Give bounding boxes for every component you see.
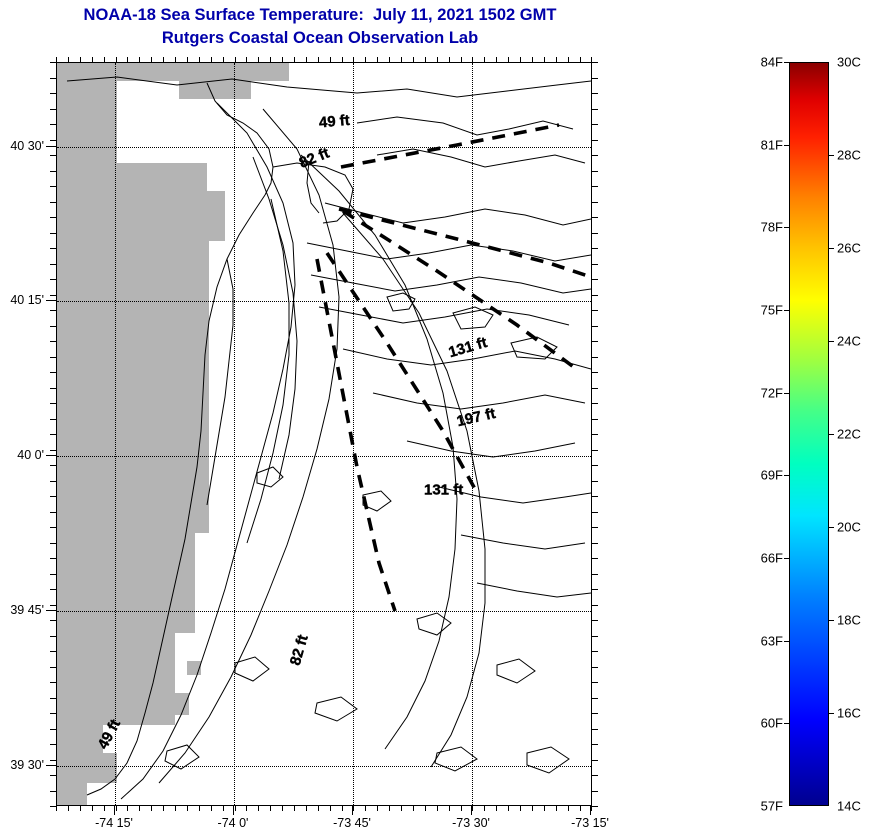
y-axis-minor-tick — [50, 388, 56, 389]
y-axis-right-minor-tick — [592, 589, 598, 590]
x-axis-minor-tick — [318, 806, 319, 811]
y-axis-minor-tick — [50, 651, 56, 652]
x-axis-top-minor-tick — [437, 57, 438, 62]
y-axis-right-minor-tick — [592, 341, 598, 342]
x-axis-top-minor-tick — [151, 57, 152, 62]
x-axis-minor-tick — [377, 806, 378, 811]
x-axis-top-minor-tick — [580, 57, 581, 62]
y-axis-right-minor-tick — [592, 310, 598, 311]
x-axis-major-tick — [114, 806, 115, 815]
x-axis-minor-tick — [139, 806, 140, 811]
y-axis-minor-tick — [50, 775, 56, 776]
y-axis-minor-tick — [50, 465, 56, 466]
y-axis-minor-tick — [50, 744, 56, 745]
x-axis-tick-label: -73 30' — [452, 816, 490, 830]
x-axis-minor-tick — [270, 806, 271, 811]
x-axis-top-minor-tick — [306, 57, 307, 62]
x-axis-top-minor-tick — [223, 57, 224, 62]
y-axis-minor-tick — [50, 512, 56, 513]
y-axis-minor-tick — [50, 729, 56, 730]
y-axis-minor-tick — [50, 357, 56, 358]
map-clip — [57, 63, 591, 805]
colorbar-celsius-tick — [829, 620, 834, 621]
colorbar-celsius-label: 28C — [837, 148, 861, 163]
coastline-contour-overlay — [57, 63, 591, 805]
colorbar-fahrenheit-tick — [784, 475, 789, 476]
y-axis-minor-tick — [50, 326, 56, 327]
x-axis-top-minor-tick — [544, 57, 545, 62]
y-axis-tick-label: 39 30' — [10, 758, 44, 772]
y-axis-minor-tick — [50, 109, 56, 110]
y-axis-minor-tick — [50, 264, 56, 265]
colorbar-fahrenheit-label: 57F — [761, 799, 783, 814]
x-axis-top-minor-tick — [377, 57, 378, 62]
y-axis-right-minor-tick — [592, 403, 598, 404]
y-axis-minor-tick — [50, 481, 56, 482]
x-axis-minor-tick — [401, 806, 402, 811]
y-axis-right-minor-tick — [592, 682, 598, 683]
depth-contour-label: 131 ft — [424, 482, 463, 499]
y-axis-tick-label: 39 45' — [10, 603, 44, 617]
x-axis-tick-label: -74 0' — [218, 816, 249, 830]
y-axis-right-minor-tick — [592, 419, 598, 420]
x-axis-top-minor-tick — [80, 57, 81, 62]
colorbar-fahrenheit-tick — [784, 641, 789, 642]
colorbar-fahrenheit-tick — [784, 227, 789, 228]
x-axis-minor-tick — [104, 806, 105, 811]
colorbar-celsius-tick — [829, 248, 834, 249]
y-axis-right-minor-tick — [592, 155, 598, 156]
colorbar-celsius-label: 24C — [837, 334, 861, 349]
y-axis-right-minor-tick — [592, 713, 598, 714]
x-axis-top-minor-tick — [175, 57, 176, 62]
x-axis-top-minor-tick — [353, 57, 354, 62]
colorbar-fahrenheit-tick — [784, 62, 789, 63]
y-axis-right-minor-tick — [592, 357, 598, 358]
x-axis-top-minor-tick — [425, 57, 426, 62]
y-axis-tick-label: 40 15' — [10, 293, 44, 307]
y-axis-minor-tick — [50, 605, 56, 606]
y-axis-right-minor-tick — [592, 605, 598, 606]
y-axis-right-minor-tick — [592, 558, 598, 559]
y-axis-minor-tick — [50, 620, 56, 621]
y-axis-right-minor-tick — [592, 171, 598, 172]
y-axis-minor-tick — [50, 589, 56, 590]
y-axis-right-minor-tick — [592, 62, 598, 63]
y-axis-minor-tick — [50, 295, 56, 296]
y-axis-right-minor-tick — [592, 434, 598, 435]
colorbar-celsius-label: 16C — [837, 706, 861, 721]
y-axis-right-minor-tick — [592, 279, 598, 280]
x-axis-top-minor-tick — [139, 57, 140, 62]
y-axis-right-minor-tick — [592, 78, 598, 79]
y-axis-minor-tick — [50, 341, 56, 342]
x-axis-minor-tick — [116, 806, 117, 811]
colorbar-celsius-label: 22C — [837, 427, 861, 442]
colorbar-fahrenheit-label: 78F — [761, 220, 783, 235]
y-axis-right-minor-tick — [592, 527, 598, 528]
x-axis-minor-tick — [568, 806, 569, 811]
x-axis-top-minor-tick — [199, 57, 200, 62]
x-axis-minor-tick — [246, 806, 247, 811]
x-axis-top-minor-tick — [235, 57, 236, 62]
y-axis-minor-tick — [50, 558, 56, 559]
x-axis-minor-tick — [532, 806, 533, 811]
y-axis-minor-tick — [50, 233, 56, 234]
colorbar-celsius-label: 20C — [837, 520, 861, 535]
y-axis-minor-tick — [50, 667, 56, 668]
y-axis-minor-tick — [50, 527, 56, 528]
y-axis-minor-tick — [50, 310, 56, 311]
y-axis-minor-tick — [50, 496, 56, 497]
x-axis-top-minor-tick — [556, 57, 557, 62]
colorbar-fahrenheit-tick — [784, 723, 789, 724]
y-axis-right-minor-tick — [592, 326, 598, 327]
x-axis-tick-label: -74 15' — [95, 816, 133, 830]
x-axis-minor-tick — [449, 806, 450, 811]
depth-contour-label: 49 ft — [318, 112, 350, 132]
colorbar-celsius-tick — [829, 434, 834, 435]
y-axis-tick-label: 40 30' — [10, 139, 44, 153]
y-axis-right-minor-tick — [592, 248, 598, 249]
y-axis-major-tick — [46, 610, 56, 611]
chart-title-block: NOAA-18 Sea Surface Temperature: July 11… — [0, 4, 640, 50]
x-axis-minor-tick — [211, 806, 212, 811]
colorbar-celsius-tick — [829, 155, 834, 156]
x-axis-top-minor-tick — [508, 57, 509, 62]
x-axis-top-minor-tick — [413, 57, 414, 62]
colorbar-fahrenheit-label: 75F — [761, 303, 783, 318]
y-axis-right-minor-tick — [592, 233, 598, 234]
y-axis-right-minor-tick — [592, 512, 598, 513]
y-axis-minor-tick — [50, 682, 56, 683]
x-axis-minor-tick — [92, 806, 93, 811]
colorbar-fahrenheit-label: 84F — [761, 55, 783, 70]
x-axis-minor-tick — [484, 806, 485, 811]
x-axis-top-minor-tick — [282, 57, 283, 62]
x-axis-top-minor-tick — [496, 57, 497, 62]
x-axis-minor-tick — [306, 806, 307, 811]
colorbar-celsius-tick — [829, 713, 834, 714]
colorbar-celsius-label: 18C — [837, 613, 861, 628]
x-axis-minor-tick — [353, 806, 354, 811]
y-axis-major-tick — [46, 300, 56, 301]
y-axis-right-minor-tick — [592, 264, 598, 265]
x-axis-minor-tick — [425, 806, 426, 811]
colorbar-celsius-label: 26C — [837, 241, 861, 256]
y-axis-minor-tick — [50, 791, 56, 792]
x-axis-minor-tick — [330, 806, 331, 811]
y-axis-minor-tick — [50, 806, 56, 807]
x-axis-top-minor-tick — [187, 57, 188, 62]
x-axis-minor-tick — [342, 806, 343, 811]
colorbar-fahrenheit-tick — [784, 145, 789, 146]
x-axis-top-minor-tick — [211, 57, 212, 62]
y-axis-minor-tick — [50, 217, 56, 218]
y-axis-right-minor-tick — [592, 574, 598, 575]
y-axis-minor-tick — [50, 186, 56, 187]
x-axis-minor-tick — [580, 806, 581, 811]
x-axis-top-minor-tick — [568, 57, 569, 62]
x-axis-top-minor-tick — [461, 57, 462, 62]
y-axis-right-minor-tick — [592, 667, 598, 668]
y-axis-right-minor-tick — [592, 109, 598, 110]
colorbar-fahrenheit-label: 81F — [761, 137, 783, 152]
colorbar-fahrenheit-tick — [784, 310, 789, 311]
y-axis-minor-tick — [50, 419, 56, 420]
x-axis-top-minor-tick — [342, 57, 343, 62]
y-axis-right-minor-tick — [592, 481, 598, 482]
colorbar-fahrenheit-label: 66F — [761, 551, 783, 566]
y-axis-right-minor-tick — [592, 388, 598, 389]
y-axis-right-minor-tick — [592, 186, 598, 187]
y-axis-minor-tick — [50, 713, 56, 714]
x-axis-top-minor-tick — [116, 57, 117, 62]
y-axis-minor-tick — [50, 434, 56, 435]
x-axis-minor-tick — [223, 806, 224, 811]
x-axis-minor-tick — [389, 806, 390, 811]
y-axis-right-minor-tick — [592, 450, 598, 451]
x-axis-minor-tick — [68, 806, 69, 811]
x-axis-minor-tick — [461, 806, 462, 811]
x-axis-top-minor-tick — [365, 57, 366, 62]
x-axis-tick-label: -73 15' — [571, 816, 609, 830]
colorbar-fahrenheit-label: 69F — [761, 468, 783, 483]
colorbar-gradient — [789, 62, 829, 806]
y-axis-right-minor-tick — [592, 698, 598, 699]
x-axis-minor-tick — [496, 806, 497, 811]
y-axis-major-tick — [46, 765, 56, 766]
y-axis-right-minor-tick — [592, 217, 598, 218]
x-axis-minor-tick — [294, 806, 295, 811]
x-axis-top-minor-tick — [520, 57, 521, 62]
x-axis-minor-tick — [56, 806, 57, 811]
y-axis-minor-tick — [50, 372, 56, 373]
y-axis-minor-tick — [50, 171, 56, 172]
colorbar-celsius-tick — [829, 341, 834, 342]
x-axis-minor-tick — [127, 806, 128, 811]
x-axis-top-minor-tick — [246, 57, 247, 62]
x-axis-minor-tick — [175, 806, 176, 811]
x-axis-top-minor-tick — [401, 57, 402, 62]
x-axis-minor-tick — [282, 806, 283, 811]
y-axis-right-minor-tick — [592, 202, 598, 203]
x-axis-top-minor-tick — [127, 57, 128, 62]
y-axis-minor-tick — [50, 140, 56, 141]
y-axis-major-tick — [46, 146, 56, 147]
y-axis-minor-tick — [50, 760, 56, 761]
x-axis-top-minor-tick — [104, 57, 105, 62]
y-axis-right-minor-tick — [592, 93, 598, 94]
x-axis-top-minor-tick — [92, 57, 93, 62]
x-axis-major-tick — [233, 806, 234, 815]
x-axis-top-minor-tick — [68, 57, 69, 62]
x-axis-minor-tick — [199, 806, 200, 811]
x-axis-top-minor-tick — [56, 57, 57, 62]
y-axis-minor-tick — [50, 248, 56, 249]
y-axis-right-minor-tick — [592, 806, 598, 807]
x-axis-top-minor-tick — [484, 57, 485, 62]
y-axis-tick-label: 40 0' — [17, 448, 44, 462]
y-axis-minor-tick — [50, 93, 56, 94]
colorbar-celsius-label: 14C — [837, 799, 861, 814]
y-axis-right-minor-tick — [592, 744, 598, 745]
y-axis-minor-tick — [50, 124, 56, 125]
x-axis-top-minor-tick — [294, 57, 295, 62]
y-axis-minor-tick — [50, 155, 56, 156]
x-axis-top-minor-tick — [258, 57, 259, 62]
y-axis-right-minor-tick — [592, 496, 598, 497]
colorbar-fahrenheit-label: 72F — [761, 385, 783, 400]
y-axis-right-minor-tick — [592, 543, 598, 544]
y-axis-minor-tick — [50, 279, 56, 280]
x-axis-top-minor-tick — [532, 57, 533, 62]
y-axis-right-minor-tick — [592, 775, 598, 776]
x-axis-minor-tick — [151, 806, 152, 811]
x-axis-minor-tick — [472, 806, 473, 811]
x-axis-minor-tick — [235, 806, 236, 811]
y-axis-right-minor-tick — [592, 636, 598, 637]
x-axis-top-minor-tick — [270, 57, 271, 62]
x-axis-minor-tick — [80, 806, 81, 811]
y-axis-right-minor-tick — [592, 620, 598, 621]
x-axis-minor-tick — [508, 806, 509, 811]
colorbar-fahrenheit-tick — [784, 393, 789, 394]
x-axis-minor-tick — [437, 806, 438, 811]
x-axis-minor-tick — [413, 806, 414, 811]
x-axis-top-minor-tick — [318, 57, 319, 62]
y-axis-right-minor-tick — [592, 140, 598, 141]
x-axis-minor-tick — [520, 806, 521, 811]
y-axis-right-minor-tick — [592, 465, 598, 466]
x-axis-tick-label: -73 45' — [333, 816, 371, 830]
colorbar-fahrenheit-label: 60F — [761, 716, 783, 731]
y-axis-minor-tick — [50, 62, 56, 63]
x-axis-top-minor-tick — [472, 57, 473, 62]
y-axis-minor-tick — [50, 78, 56, 79]
page-subtitle: Rutgers Coastal Ocean Observation Lab — [0, 27, 640, 50]
sst-colorbar[interactable]: 30C28C26C24C22C20C18C16C14C84F81F78F75F7… — [789, 62, 829, 806]
y-axis-right-minor-tick — [592, 295, 598, 296]
x-axis-minor-tick — [544, 806, 545, 811]
y-axis-right-minor-tick — [592, 372, 598, 373]
y-axis-minor-tick — [50, 403, 56, 404]
y-axis-minor-tick — [50, 202, 56, 203]
y-axis-minor-tick — [50, 698, 56, 699]
x-axis-top-minor-tick — [449, 57, 450, 62]
x-axis-top-minor-tick — [163, 57, 164, 62]
y-axis-right-minor-tick — [592, 791, 598, 792]
x-axis-top-minor-tick — [330, 57, 331, 62]
y-axis-minor-tick — [50, 450, 56, 451]
x-axis-minor-tick — [365, 806, 366, 811]
x-axis-minor-tick — [163, 806, 164, 811]
y-axis-right-minor-tick — [592, 651, 598, 652]
y-axis-minor-tick — [50, 543, 56, 544]
colorbar-celsius-tick — [829, 527, 834, 528]
y-axis-minor-tick — [50, 574, 56, 575]
x-axis-minor-tick — [187, 806, 188, 811]
colorbar-fahrenheit-tick — [784, 558, 789, 559]
page-title: NOAA-18 Sea Surface Temperature: July 11… — [0, 4, 640, 27]
y-axis-right-minor-tick — [592, 124, 598, 125]
sst-map-plot[interactable]: 49 ft82 ft131 ft197 ft131 ft82 ft49 ft — [56, 62, 592, 806]
y-axis-minor-tick — [50, 636, 56, 637]
x-axis-top-minor-tick — [389, 57, 390, 62]
y-axis-major-tick — [46, 455, 56, 456]
colorbar-celsius-label: 30C — [837, 55, 861, 70]
y-axis-right-minor-tick — [592, 760, 598, 761]
y-axis-right-minor-tick — [592, 729, 598, 730]
x-axis-minor-tick — [258, 806, 259, 811]
x-axis-minor-tick — [556, 806, 557, 811]
colorbar-fahrenheit-label: 63F — [761, 633, 783, 648]
